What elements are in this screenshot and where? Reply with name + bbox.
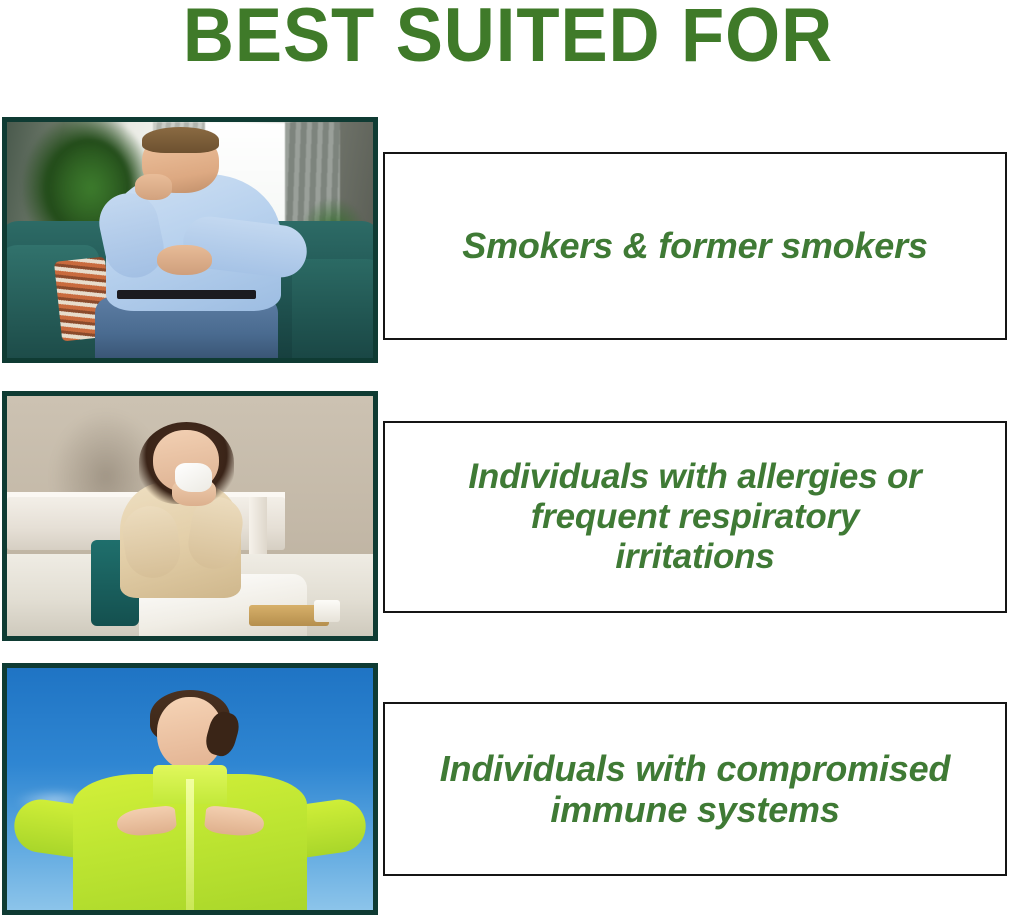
list-item: Smokers & former smokers	[0, 117, 1016, 363]
page-title: BEST SUITED FOR	[36, 0, 981, 76]
callout-box: Individuals with allergies or frequent r…	[383, 421, 1007, 613]
callout-text: Smokers & former smokers	[462, 225, 927, 267]
callout-box: Individuals with compromised immune syst…	[383, 702, 1007, 876]
list-item: Individuals with compromised immune syst…	[0, 663, 1016, 915]
list-item: Individuals with allergies or frequent r…	[0, 391, 1016, 641]
man-coughing-on-sofa-photo	[2, 117, 378, 363]
photo-artwork	[7, 396, 373, 636]
callout-box: Smokers & former smokers	[383, 152, 1007, 340]
callout-text: Individuals with allergies or frequent r…	[468, 457, 921, 577]
infographic-canvas: BEST SUITED FOR	[0, 0, 1016, 915]
woman-sneezing-in-bed-photo	[2, 391, 378, 641]
woman-breathing-outdoors-photo	[2, 663, 378, 915]
callout-text: Individuals with compromised immune syst…	[440, 748, 950, 830]
photo-artwork	[7, 668, 373, 910]
photo-artwork	[7, 122, 373, 358]
